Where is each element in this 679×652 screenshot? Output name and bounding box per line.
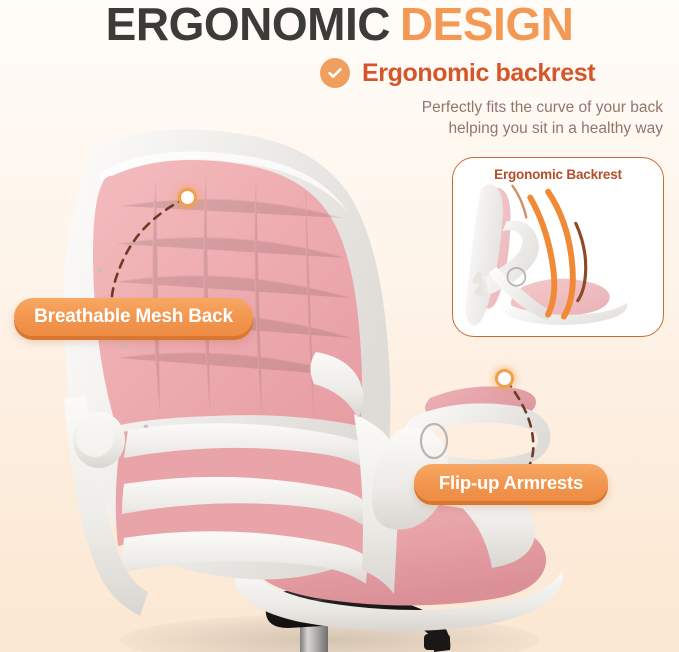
callout-breathable-mesh-back[interactable]: Breathable Mesh Back <box>14 298 253 336</box>
feature-subtitle-line-1: Perfectly fits the curve of your back <box>320 97 663 118</box>
check-circle-icon <box>320 58 350 88</box>
product-feature-banner: ERGONOMICDESIGN <box>0 0 679 652</box>
feature-block: Ergonomic backrest Perfectly fits the cu… <box>320 58 665 139</box>
feature-title: Ergonomic backrest <box>362 59 595 88</box>
hotspot-dot-armrests[interactable] <box>495 369 514 388</box>
feature-heading-row: Ergonomic backrest <box>320 58 665 88</box>
inset-card-ergonomic-backrest: Ergonomic Backrest <box>452 157 664 337</box>
feature-subtitle-line-2: helping you sit in a healthy way <box>320 118 663 139</box>
callout-flip-up-armrests[interactable]: Flip-up Armrests <box>414 464 608 501</box>
hotspot-dot-mesh-back[interactable] <box>178 188 197 207</box>
inset-card-title: Ergonomic Backrest <box>453 167 663 182</box>
feature-subtitle: Perfectly fits the curve of your back he… <box>320 97 665 139</box>
inset-chair-side-profile <box>453 158 663 336</box>
